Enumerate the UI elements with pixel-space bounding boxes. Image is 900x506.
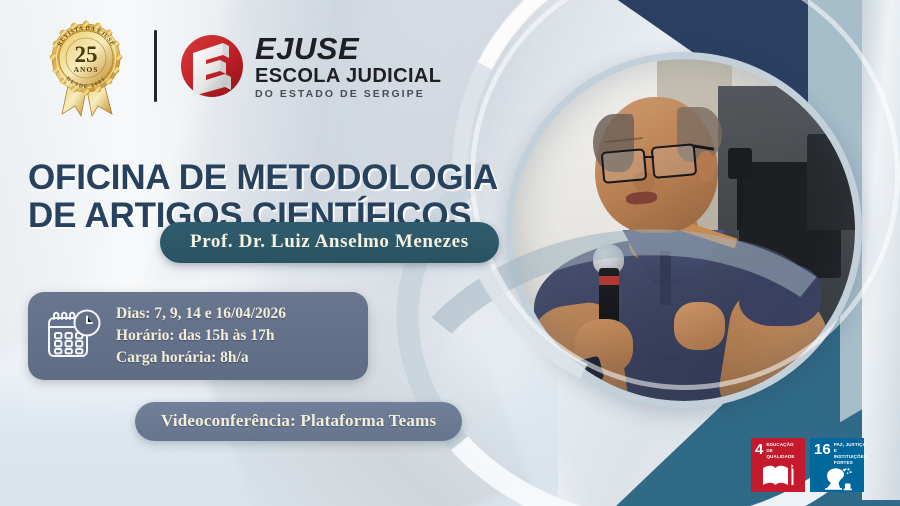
open-book-pencil-icon bbox=[755, 460, 801, 492]
speaker-photo bbox=[506, 52, 862, 408]
event-dates: Dias: 7, 9, 14 e 16/04/2026 bbox=[116, 303, 286, 325]
svg-text:ANOS: ANOS bbox=[74, 65, 99, 74]
event-poster: REVISTA DA EJUSE DESDE 2001 25 ANOS bbox=[0, 0, 900, 506]
sdg-goal-16-label: PAZ, JUSTIÇA E INSTITUIÇÕES FORTES bbox=[834, 442, 867, 466]
event-details-box: Dias: 7, 9, 14 e 16/04/2026 Horário: das… bbox=[28, 292, 368, 380]
svg-text:25: 25 bbox=[75, 42, 98, 67]
sdg-goal-4-label: EDUCAÇÃO DE QUALIDADE bbox=[766, 442, 801, 460]
ejuse-acronym: EJUSE bbox=[255, 33, 441, 64]
sdg-logos: 4 EDUCAÇÃO DE QUALIDADE 16 PAZ, JUSTIÇA … bbox=[751, 438, 864, 492]
speaker-name-badge: Prof. Dr. Luiz Anselmo Menezes bbox=[160, 222, 499, 263]
photo-vignette bbox=[513, 59, 855, 401]
sdg-goal-16: 16 PAZ, JUSTIÇA E INSTITUIÇÕES FORTES bbox=[810, 438, 864, 492]
right-edge-highlight bbox=[862, 0, 900, 506]
ejuse-brand-text: EJUSE ESCOLA JUDICIAL DO ESTADO DE SERGI… bbox=[255, 33, 441, 100]
dove-gavel-icon bbox=[814, 466, 860, 493]
ejuse-logo-mark-icon bbox=[179, 33, 245, 99]
sdg-goal-4: 4 EDUCAÇÃO DE QUALIDADE bbox=[751, 438, 805, 492]
bottom-blue-strip bbox=[755, 500, 900, 506]
header: REVISTA DA EJUSE DESDE 2001 25 ANOS bbox=[40, 14, 441, 118]
sdg-goal-16-number: 16 bbox=[814, 442, 831, 457]
sdg-goal-4-number: 4 bbox=[755, 442, 763, 457]
sdg-goal-16-header: 16 PAZ, JUSTIÇA E INSTITUIÇÕES FORTES bbox=[814, 442, 860, 466]
speaker-photo-image bbox=[513, 59, 855, 401]
ejuse-brand: EJUSE ESCOLA JUDICIAL DO ESTADO DE SERGI… bbox=[179, 33, 441, 100]
sdg-goal-4-header: 4 EDUCAÇÃO DE QUALIDADE bbox=[755, 442, 801, 460]
page-title-line-1: OFICINA DE METODOLOGIA bbox=[28, 158, 498, 197]
event-details-text: Dias: 7, 9, 14 e 16/04/2026 Horário: das… bbox=[116, 303, 286, 369]
revista-da-ejuse-25-anos-seal-icon: REVISTA DA EJUSE DESDE 2001 25 ANOS bbox=[40, 14, 132, 118]
ejuse-name: ESCOLA JUDICIAL bbox=[255, 66, 441, 86]
event-workload: Carga horária: 8h/a bbox=[116, 347, 286, 369]
ejuse-subtitle: DO ESTADO DE SERGIPE bbox=[255, 89, 441, 100]
event-time: Horário: das 15h às 17h bbox=[116, 325, 286, 347]
header-divider bbox=[154, 30, 157, 102]
calendar-clock-icon bbox=[44, 307, 102, 365]
videoconference-badge: Videoconferência: Plataforma Teams bbox=[135, 402, 462, 441]
